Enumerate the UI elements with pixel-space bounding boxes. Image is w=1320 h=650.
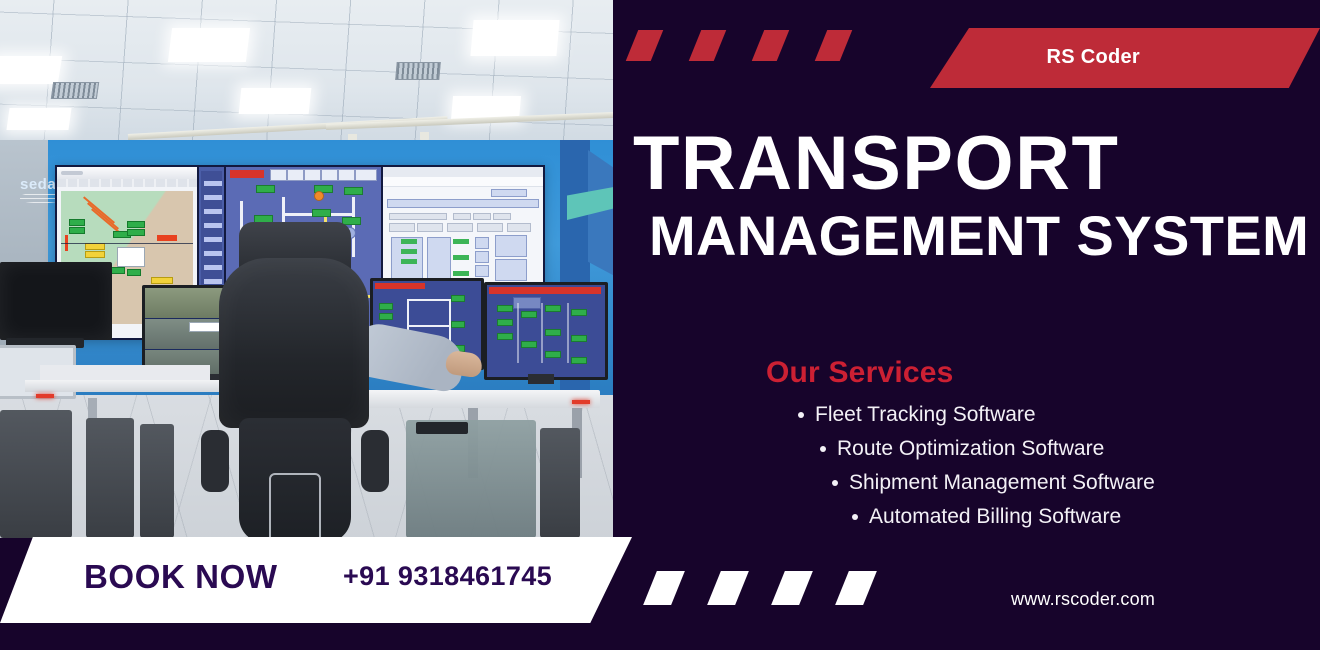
equipment-cabinet xyxy=(406,420,536,538)
pane-toolbar xyxy=(57,179,197,187)
desktop-tower xyxy=(0,410,72,538)
headline-line-1: TRANSPORT xyxy=(633,128,1293,201)
bullet-icon xyxy=(832,480,838,486)
bottom-slash-4 xyxy=(835,571,877,605)
ceiling-light xyxy=(0,56,62,84)
ceiling-light xyxy=(470,20,559,56)
headline-line-2: MANAGEMENT SYSTEM xyxy=(649,207,1293,266)
phone-number[interactable]: +91 9318461745 xyxy=(343,561,552,592)
bullet-icon xyxy=(820,446,826,452)
chair-backrest xyxy=(219,258,369,428)
top-slash-1 xyxy=(626,30,664,61)
ceiling-light xyxy=(6,108,71,130)
services-heading: Our Services xyxy=(766,356,954,390)
bullet-icon xyxy=(798,412,804,418)
service-label: Route Optimization Software xyxy=(837,432,1104,466)
book-now-label[interactable]: BOOK NOW xyxy=(84,558,278,596)
bottom-slash-1 xyxy=(643,571,685,605)
service-item: Automated Billing Software xyxy=(700,500,1240,534)
desktop-tower xyxy=(540,428,580,538)
service-label: Fleet Tracking Software xyxy=(815,398,1036,432)
top-slash-3 xyxy=(752,30,790,61)
side-desk-surface xyxy=(40,365,210,380)
top-slash-2 xyxy=(689,30,727,61)
ceiling-light xyxy=(168,28,250,62)
right-wall-panel xyxy=(588,150,613,280)
monitor-left-back xyxy=(0,262,112,340)
ceiling-light xyxy=(239,88,312,114)
service-label: Shipment Management Software xyxy=(849,466,1155,500)
ceiling-vent xyxy=(51,82,99,99)
chair-lumbar-support xyxy=(269,473,321,538)
dock-device xyxy=(416,422,468,434)
headline-block: TRANSPORT MANAGEMENT SYSTEM xyxy=(633,128,1293,266)
bullet-icon xyxy=(852,514,858,520)
top-slash-4 xyxy=(815,30,853,61)
brand-name: RS Coder xyxy=(1046,46,1140,69)
side-desk xyxy=(25,380,220,392)
service-label: Automated Billing Software xyxy=(869,500,1121,534)
bottom-slash-2 xyxy=(707,571,749,605)
desktop-tower xyxy=(140,424,174,538)
promo-banner: sedapa xyxy=(0,0,1320,650)
monitor-stand xyxy=(528,374,554,384)
desktop-tower xyxy=(86,418,134,538)
services-list: Fleet Tracking Software Route Optimizati… xyxy=(700,398,1240,534)
tower-led xyxy=(36,394,54,398)
chair-armrest xyxy=(361,430,389,492)
ceiling-vent xyxy=(395,62,441,80)
service-item: Route Optimization Software xyxy=(700,432,1240,466)
service-item: Shipment Management Software xyxy=(700,466,1240,500)
control-room-photo: sedapa xyxy=(0,0,613,538)
monitor-scada-right xyxy=(484,282,608,380)
service-item: Fleet Tracking Software xyxy=(700,398,1240,432)
tower-led xyxy=(572,400,590,404)
office-chair xyxy=(205,258,385,538)
bottom-slash-3 xyxy=(771,571,813,605)
website-url[interactable]: www.rscoder.com xyxy=(1011,589,1155,610)
chair-armrest xyxy=(201,430,229,492)
